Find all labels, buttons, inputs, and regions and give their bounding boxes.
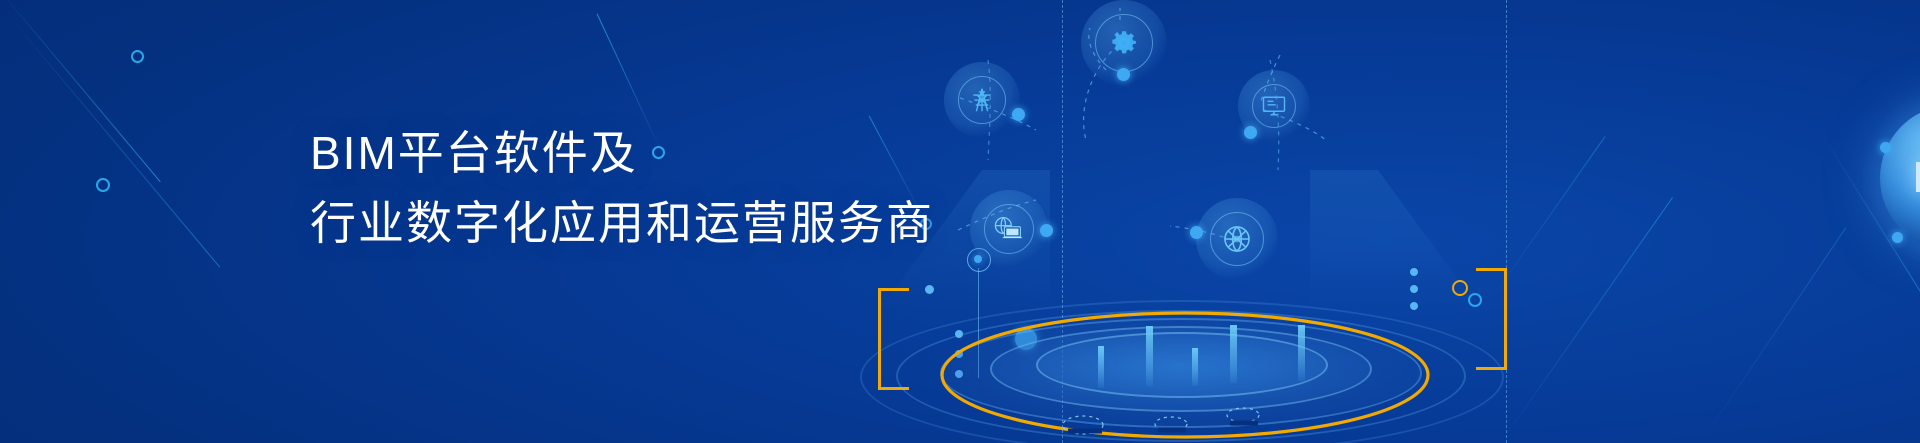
decor-dot-topleft-b — [96, 178, 110, 192]
bim-illustration: BIM — [840, 0, 1920, 443]
orbit-track — [840, 0, 1920, 443]
decor-line-topleft-b — [7, 14, 220, 267]
headline-line-2: 行业数字化应用和运营服务商 — [310, 188, 934, 258]
decor-line-topleft-a — [0, 0, 161, 182]
headline-line-1: BIM平台软件及 — [310, 118, 934, 188]
hero-banner: BIM平台软件及 行业数字化应用和运营服务商 — [0, 0, 1920, 443]
headline-block: BIM平台软件及 行业数字化应用和运营服务商 — [310, 118, 934, 258]
decor-dot-topleft-a — [131, 50, 144, 63]
